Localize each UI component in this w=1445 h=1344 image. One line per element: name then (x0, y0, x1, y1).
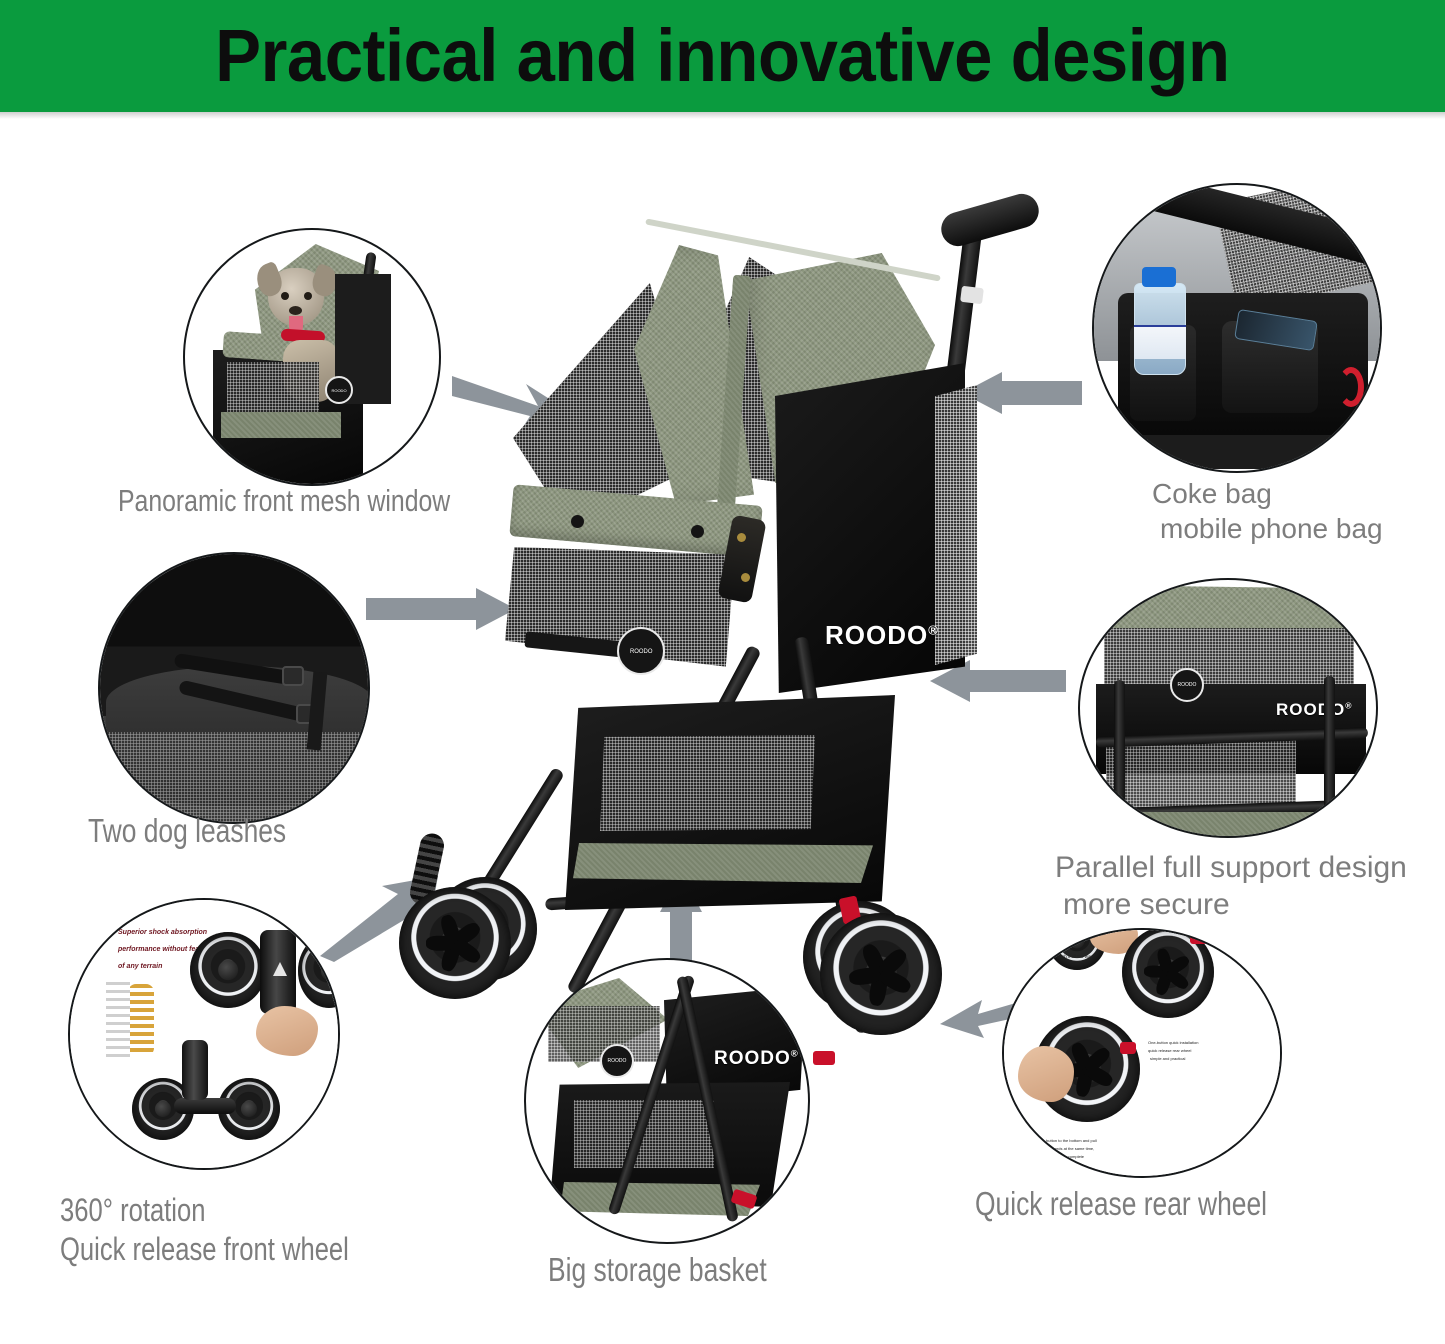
red-carabiner-clip (1338, 367, 1364, 407)
brand-registered: ® (928, 622, 939, 637)
page-title: Practical and innovative design (215, 19, 1229, 93)
inset-quick-release-rear-wheel: Align the axle and push it all the way O… (1002, 928, 1282, 1178)
caption-front-wheel-line1: 360° rotation (60, 1193, 205, 1229)
dog-nose (289, 306, 302, 315)
inset-coke-bag (1092, 183, 1382, 473)
shock-wheel-left-hub (218, 960, 238, 980)
brand-wordmark: ROODO® (825, 620, 939, 651)
leash-buckle-1 (282, 666, 304, 686)
rear-release-red-lever (1190, 930, 1210, 944)
hand-pressing-release-button (1018, 1046, 1074, 1102)
caption-coke-bag-line2: mobile phone bag (1160, 513, 1383, 544)
caption-rear-wheel: Quick release rear wheel (975, 1186, 1267, 1223)
parallel-upright-right (1324, 676, 1335, 822)
strap-snap-right (691, 525, 704, 538)
caption-parallel-line2: more secure (1063, 888, 1230, 922)
panoramic-side-mesh (227, 362, 319, 416)
basket-brand-name: ROODO (714, 1048, 791, 1069)
hinge-rivet-top (737, 533, 746, 542)
banner-shadow (0, 112, 1445, 119)
basket-mesh-panel (600, 735, 815, 831)
inset-two-dog-leashes (98, 552, 370, 824)
caption-front-wheel-line2: Quick release front wheel (60, 1232, 349, 1268)
spine-diagram (106, 982, 130, 1058)
inset-shock-absorption: Superior shock absorption performance wi… (68, 898, 340, 1170)
basket-bottom-trim (573, 843, 873, 883)
panoramic-logo-badge: ROODO (325, 376, 353, 404)
parallel-upper-mesh (1104, 628, 1354, 690)
swivel-axle (174, 1098, 236, 1114)
shock-note-line3: of any terrain (118, 962, 162, 972)
spring-diagram (128, 984, 154, 1056)
rear-release-red-button (1120, 1042, 1136, 1054)
header-banner: Practical and innovative design (0, 0, 1445, 112)
shock-note-line2: performance without fear (118, 945, 202, 955)
handle-collar (960, 286, 984, 305)
hinge-rivet-bottom (741, 573, 750, 582)
rear-wheel (820, 913, 942, 1035)
caption-coke-bag-line1: Coke bag (1152, 478, 1272, 509)
shock-wheel-left (190, 932, 266, 1008)
basket-brand-registered: ® (791, 1049, 799, 1060)
parallel-brand-registered: ® (1345, 700, 1352, 710)
shock-note-line1: Superior shock absorption (118, 928, 207, 938)
product-stroller-photo: ROODO® ROODO (395, 195, 1035, 1020)
rear-wheel-note-mid-line3: simple and practical (1150, 1056, 1185, 1062)
rear-wheel-note-top: Align the axle and push it all the way (1020, 954, 1093, 961)
shock-wheel-right-hub (321, 961, 337, 980)
parallel-logo-badge: ROODO (1170, 668, 1204, 702)
inset-panoramic-front-mesh-window: ROODO (183, 228, 441, 486)
dog-eye-left (281, 292, 289, 300)
rear-wheel-note-bottom-line2: the wheel outwards at the same time, (1028, 1146, 1094, 1152)
rear-release-wheel-small-hub (1069, 933, 1084, 948)
parallel-canopy-edge (1100, 586, 1360, 632)
brand-logo-badge: ROODO (617, 627, 665, 675)
panoramic-logo-label: ROODO (331, 388, 346, 393)
hand-holding-absorber (256, 1006, 318, 1056)
brand-logo-label: ROODO (630, 648, 652, 654)
rear-wheel-note-bottom-line3: the disassembly is complete (1034, 1154, 1084, 1160)
cabin-side-mesh (935, 385, 977, 665)
dog-eye-right (304, 292, 312, 300)
parallel-lower-mesh (1106, 740, 1296, 810)
parallel-brand-wordmark: ROODO® (1276, 700, 1353, 720)
rear-wheel-note-mid-line1: One-button quick installation (1148, 1040, 1198, 1046)
rear-wheel-release-tab-2 (813, 1051, 835, 1065)
caption-leashes: Two dog leashes (88, 813, 286, 850)
strap-snap-left (571, 515, 584, 528)
rear-wheel-note-mid-line2: quick release rear wheel (1148, 1048, 1191, 1054)
panoramic-lower-trim (221, 412, 341, 438)
parallel-upright-left (1114, 680, 1125, 820)
caption-panoramic: Panoramic front mesh window (118, 484, 450, 519)
swivel-post (182, 1040, 208, 1100)
basket-brand-wordmark: ROODO® (714, 1048, 799, 1070)
parallel-bottom-trim (1104, 812, 1354, 836)
brand-name: ROODO (825, 620, 928, 650)
inset-storage-basket: ROODO® ROODO (524, 958, 810, 1244)
basket-logo-label: ROODO (608, 1058, 627, 1064)
caption-parallel-line1: Parallel full support design (1055, 851, 1407, 885)
inset-parallel-support: ROODO® ROODO (1078, 578, 1378, 838)
shock-arrow-up-icon (273, 962, 287, 976)
leash-basin-side-wall (100, 732, 370, 824)
water-bottle-cap (1142, 267, 1176, 287)
water-bottle-label (1134, 325, 1186, 359)
basket-logo-badge: ROODO (600, 1044, 634, 1078)
parallel-logo-label: ROODO (1178, 682, 1197, 688)
rear-wheel-note-bottom-line1: Press the button to the bottom and pull (1028, 1138, 1097, 1144)
swivel-wheel-right-hub (241, 1101, 257, 1117)
coke-bag-floor (1124, 435, 1354, 469)
handle-grip (937, 190, 1042, 250)
swivel-wheel-left-hub (155, 1101, 171, 1117)
front-wheel (399, 887, 511, 999)
caption-basket: Big storage basket (548, 1252, 767, 1289)
shock-wheel-right (298, 934, 340, 1008)
